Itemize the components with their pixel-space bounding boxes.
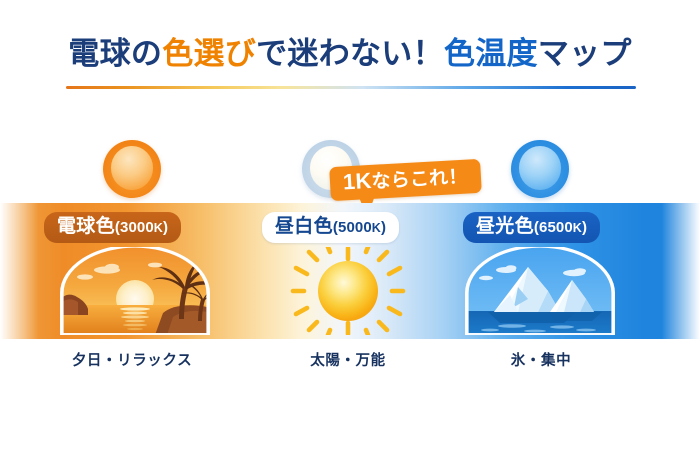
title-segment-2: 色選び [162,36,256,71]
neutral-caption: 太陽・万能 [248,349,448,370]
sunset-svg [55,247,215,335]
title-segment-4: 色温度 [444,36,538,71]
iceberg-svg [460,247,620,335]
title-text: 電球の色選びで迷わない！色温度マップ [0,36,700,73]
callout-body: 1Kならこれ！ [329,159,481,201]
page-title: 電球の色選びで迷わない！色温度マップ [0,36,700,73]
iceberg-scene-illustration [460,247,620,335]
warm-kelvin-unit: K [154,221,163,235]
warm-kelvin-value: 3000 [120,219,154,236]
recommendation-callout: 1Kならこれ！ [329,159,481,201]
callout-text-rest: ならこれ！ [371,167,468,193]
sunset-scene-illustration [55,247,215,335]
title-underline-gradient [66,86,636,89]
callout-text: 1Kならこれ！ [342,165,468,194]
warm-caption: 夕日・リラックス [32,349,232,370]
cool-bulb-icon [511,140,569,198]
neutral-label-kelvin: (5000K) [333,219,386,236]
warm-label-name: 電球色 [57,216,115,237]
cool-kelvin-unit: K [573,221,582,235]
title-segment-5: マップ [538,36,632,71]
title-segment-1: 電球の [68,36,162,71]
sun-scene-illustration [268,247,428,335]
cool-kelvin-value: 6500 [539,219,573,236]
cool-label-kelvin: (6500K) [534,219,587,236]
neutral-kelvin-unit: K [372,221,381,235]
cool-label-name: 昼光色 [476,216,534,237]
warm-label-kelvin: (3000K) [115,219,168,236]
warm-color-label-pill: 電球色(3000K) [44,212,181,243]
title-segment-3: で迷わない！ [256,36,444,71]
neutral-kelvin-value: 5000 [338,219,372,236]
neutral-label-name: 昼白色 [275,216,333,237]
infographic-canvas: 電球の色選びで迷わない！色温度マップ 1Kならこれ！ [0,0,700,466]
warm-kelvin-paren-close: ) [163,219,168,236]
cool-color-label-pill: 昼光色(6500K) [463,212,600,243]
cool-kelvin-paren-close: ) [582,219,587,236]
cool-caption: 氷・集中 [441,349,641,370]
neutral-kelvin-paren-close: ) [381,219,386,236]
callout-text-emphasis: 1K [342,168,372,195]
sun-svg [268,247,428,335]
neutral-color-label-pill: 昼白色(5000K) [262,212,399,243]
warm-bulb-icon [103,140,161,198]
